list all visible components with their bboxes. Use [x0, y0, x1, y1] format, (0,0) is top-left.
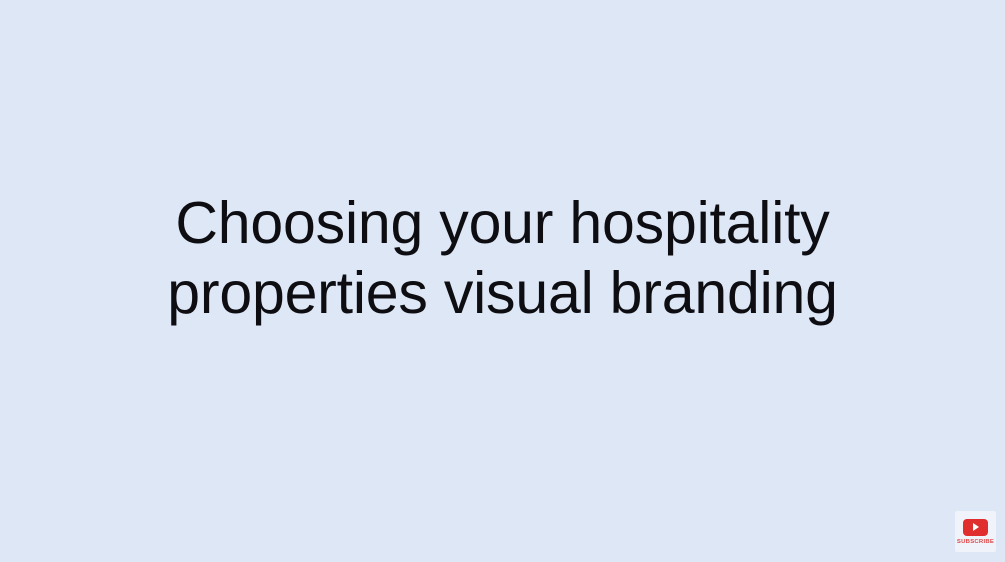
- youtube-subscribe-watermark[interactable]: SUBSCRIBE: [955, 511, 996, 552]
- play-triangle-icon: [973, 523, 979, 531]
- slide-title: Choosing your hospitality properties vis…: [0, 188, 1005, 328]
- slide-title-line-1: Choosing your hospitality: [0, 188, 1005, 258]
- presentation-slide: Choosing your hospitality properties vis…: [0, 0, 1005, 562]
- subscribe-label: SUBSCRIBE: [957, 539, 994, 545]
- youtube-play-icon: [963, 519, 988, 536]
- slide-title-line-2: properties visual branding: [0, 258, 1005, 328]
